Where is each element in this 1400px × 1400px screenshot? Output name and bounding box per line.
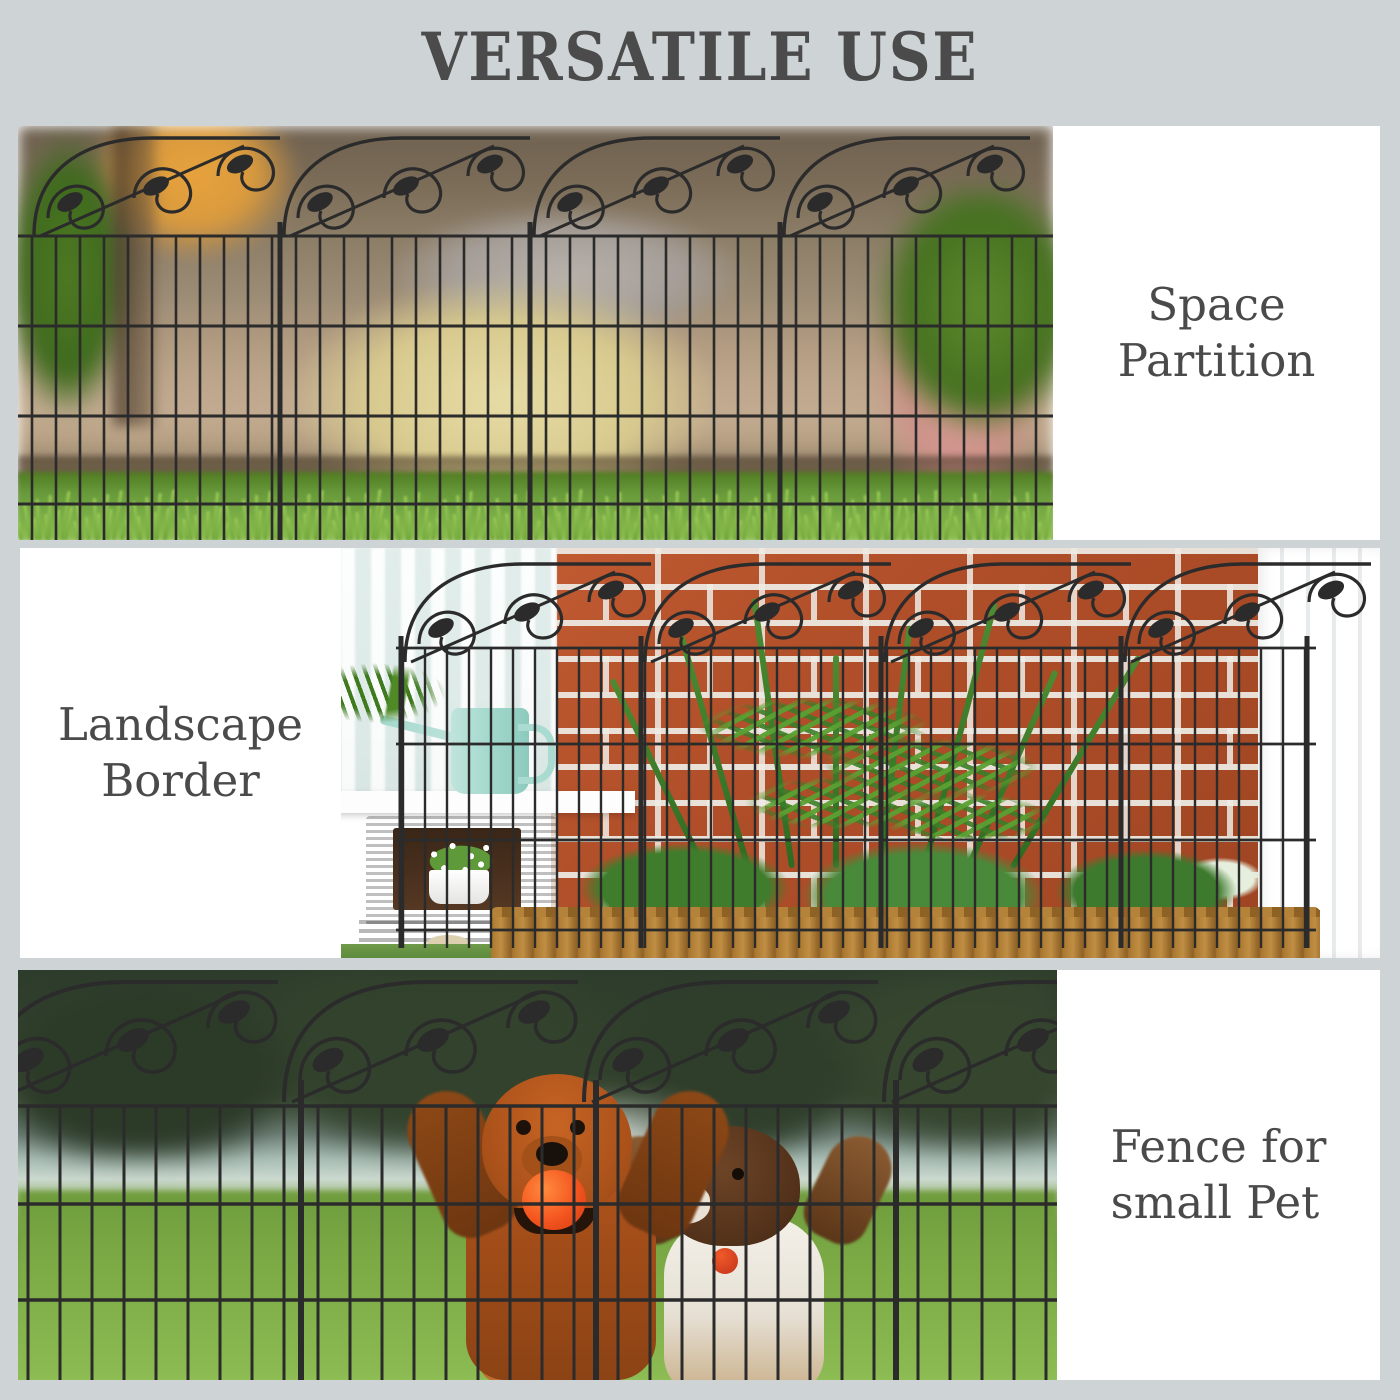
- fern-frond: [341, 658, 467, 728]
- flower-pot: [429, 870, 489, 904]
- pergola-post: [113, 126, 155, 426]
- label-pane-fence-for-small-pet: Fence for small Pet: [1057, 970, 1380, 1380]
- grass-blades: [18, 460, 1053, 540]
- scene-dogs-on-lawn: [18, 970, 1057, 1380]
- dog-eye: [516, 1120, 531, 1135]
- photo-fence-for-small-pet: [18, 970, 1057, 1380]
- photo-landscape-border: [341, 548, 1380, 958]
- label-pane-landscape-border: Landscape Border: [20, 548, 341, 958]
- scene-patio: [18, 126, 1053, 540]
- section-space-partition: Space Partition: [18, 126, 1380, 540]
- foliage-right: [843, 186, 1053, 486]
- ground-cover-plants: [536, 768, 1280, 918]
- wooden-log-edging: [491, 910, 1320, 958]
- dog-ear: [795, 1125, 903, 1253]
- orange-ball: [522, 1170, 586, 1230]
- label-fence-for-small-pet: Fence for small Pet: [1111, 1119, 1327, 1232]
- photo-space-partition: [18, 126, 1053, 540]
- scene-garden-bed: [341, 548, 1380, 958]
- dog-eye: [732, 1168, 744, 1180]
- label-landscape-border: Landscape Border: [58, 697, 303, 810]
- label-pane-space-partition: Space Partition: [1053, 126, 1380, 540]
- dog-eye: [570, 1120, 585, 1135]
- infographic-page: VERSATILE USE: [0, 0, 1400, 1400]
- dog-nose: [536, 1142, 568, 1166]
- section-fence-for-small-pet: Fence for small Pet: [18, 970, 1380, 1380]
- page-title: VERSATILE USE: [84, 18, 1316, 96]
- section-landscape-border: Landscape Border: [20, 548, 1380, 958]
- label-space-partition: Space Partition: [1118, 277, 1316, 390]
- dog-golden: [418, 1058, 718, 1378]
